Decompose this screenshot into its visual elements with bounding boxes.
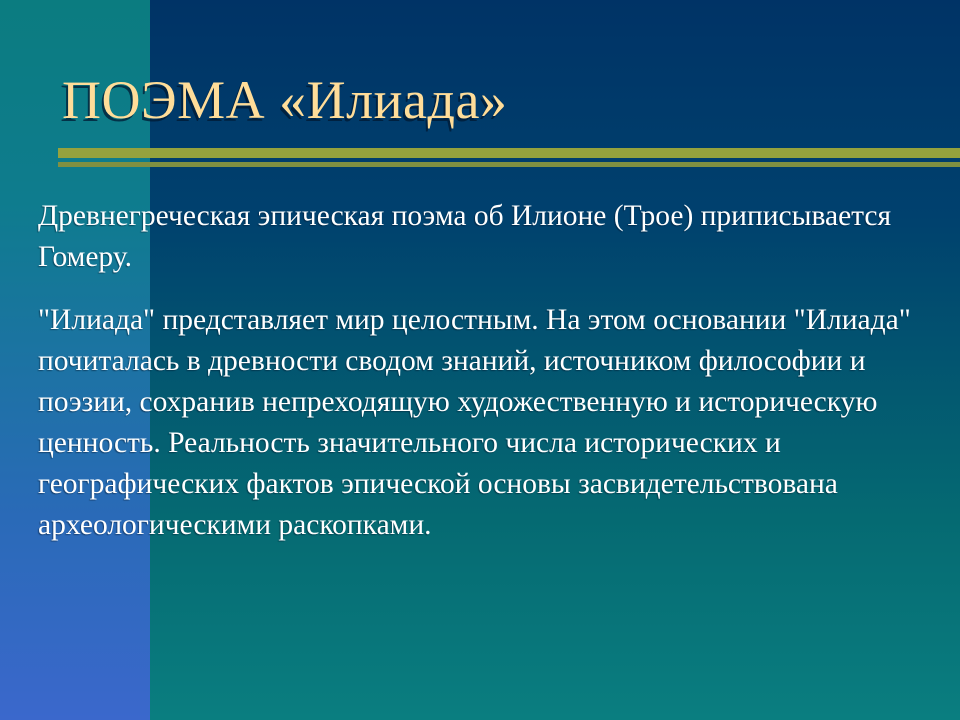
slide-title-block: ПОЭМА «Илиада»: [0, 62, 960, 172]
body-paragraph-2: "Илиада" представляет мир целостным. На …: [38, 300, 928, 546]
page-title: ПОЭМА «Илиада»: [62, 62, 507, 138]
body-paragraph-1: Древнегреческая эпическая поэма об Илион…: [38, 196, 928, 278]
slide-body: Древнегреческая эпическая поэма об Илион…: [38, 196, 928, 546]
title-divider-thin: [58, 162, 960, 167]
title-divider-thick: [58, 148, 960, 158]
slide: ПОЭМА «Илиада» Древнегреческая эпическая…: [0, 0, 960, 720]
